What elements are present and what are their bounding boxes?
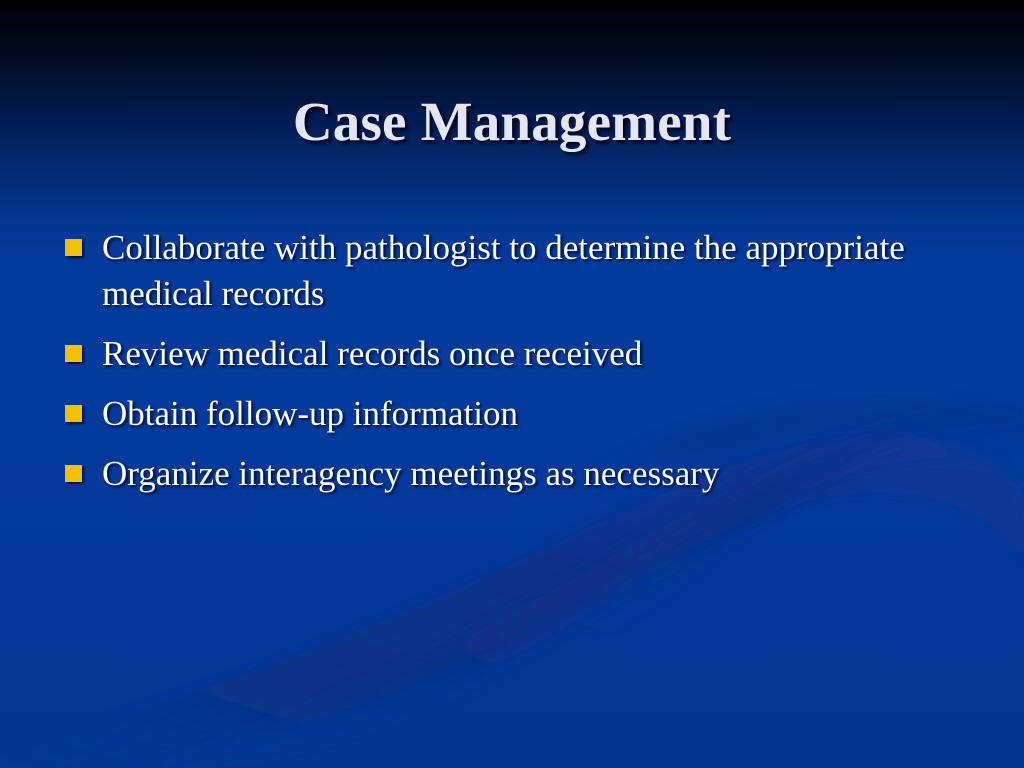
square-bullet-icon xyxy=(65,465,82,482)
bullet-item-label: Collaborate with pathologist to determin… xyxy=(102,225,958,317)
bullet-item: Collaborate with pathologist to determin… xyxy=(58,225,958,317)
presentation-slide: Case Management Collaborate with patholo… xyxy=(0,0,1024,768)
slide-title: Case Management xyxy=(293,93,731,151)
bullet-item: Organize interagency meetings as necessa… xyxy=(58,451,958,497)
bullet-list: Collaborate with pathologist to determin… xyxy=(58,225,958,497)
title-container: Case Management xyxy=(0,56,1024,187)
bullet-item: Review medical records once received xyxy=(58,331,958,377)
bullet-item-label: Organize interagency meetings as necessa… xyxy=(102,451,958,497)
square-bullet-icon xyxy=(65,239,82,256)
bullet-item-label: Review medical records once received xyxy=(102,331,958,377)
square-bullet-icon xyxy=(65,345,82,362)
square-bullet-icon xyxy=(65,405,82,422)
bullet-item: Obtain follow-up information xyxy=(58,391,958,437)
bullet-item-label: Obtain follow-up information xyxy=(102,391,958,437)
